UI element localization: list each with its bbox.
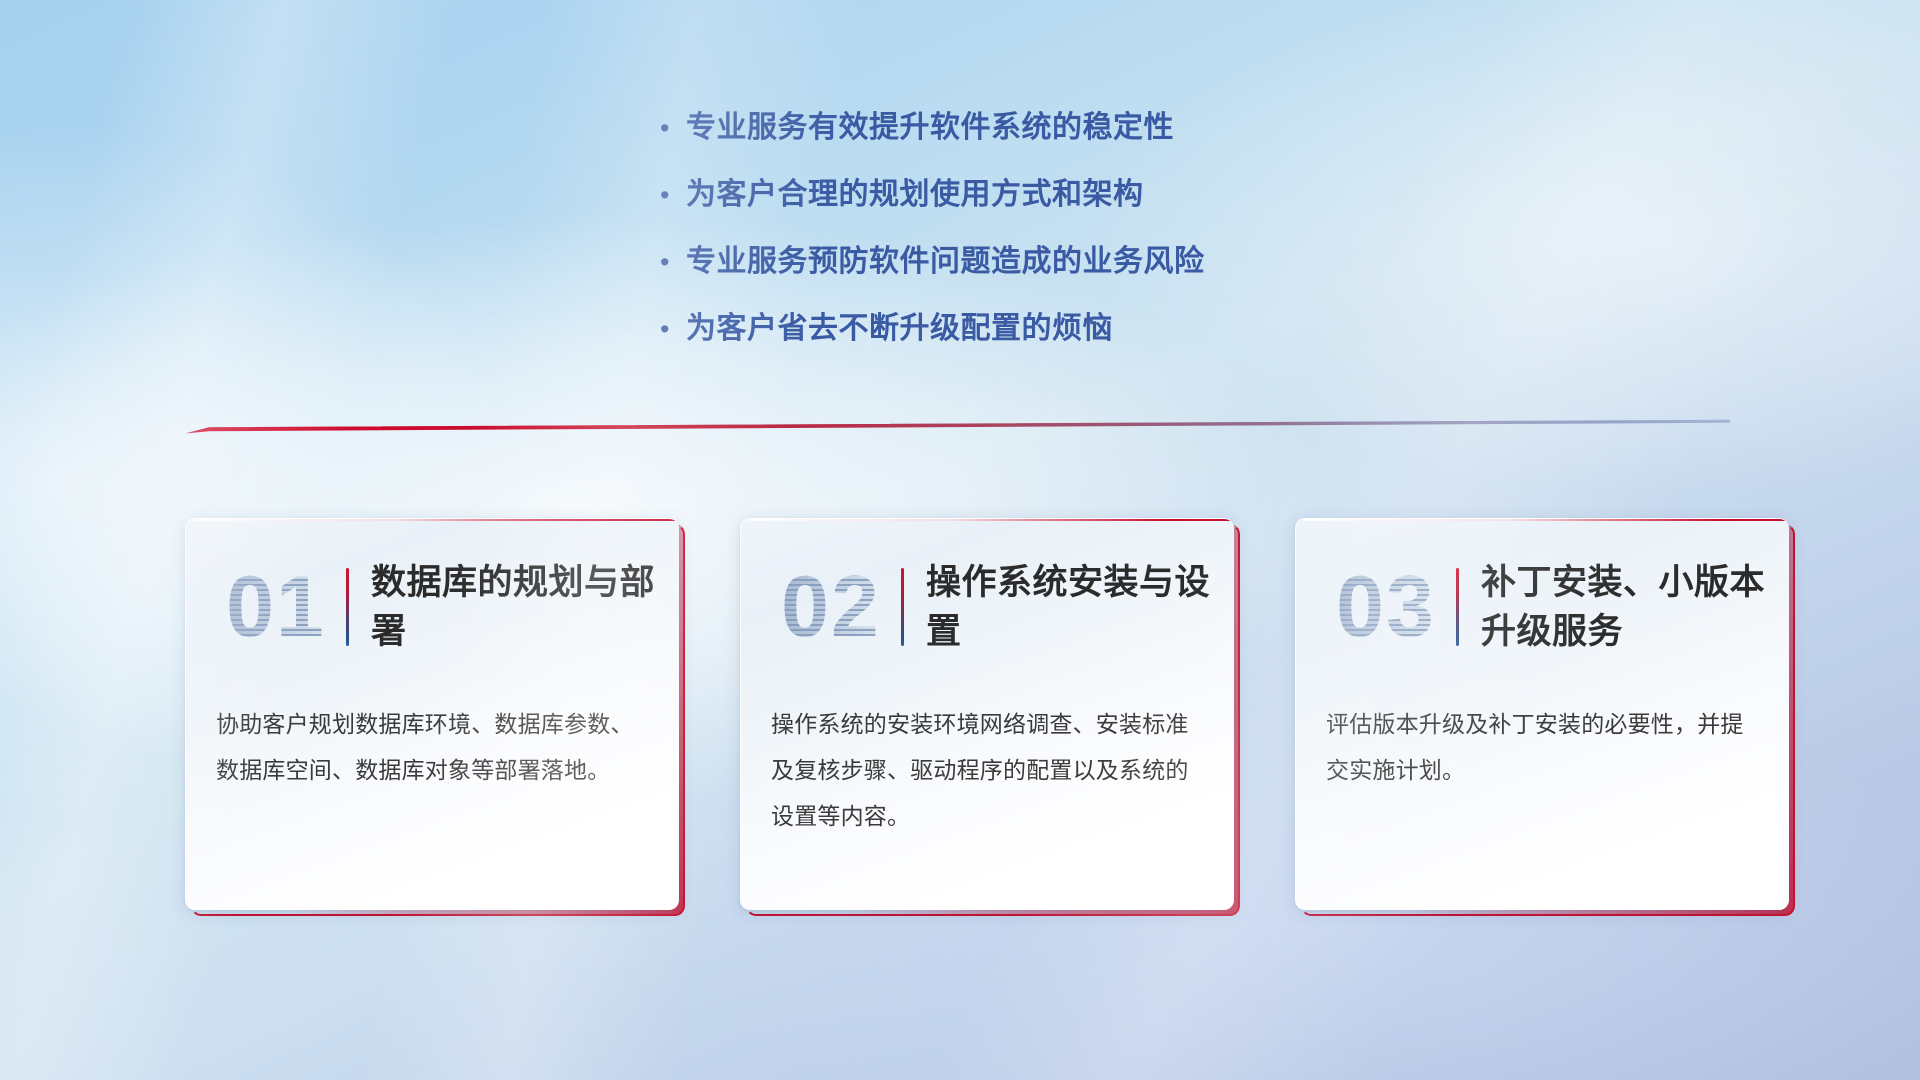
bullet-text: 为客户省去不断升级配置的烦恼 (686, 309, 1113, 349)
service-card-row: 01 数据库的规划与部署 协助客户规划数据库环境、数据库参数、数据库空间、数据库… (185, 518, 1795, 916)
card-separator-rule (901, 568, 904, 646)
card-number: 01 (212, 564, 340, 650)
benefits-bullet-list: • 专业服务有效提升软件系统的稳定性 • 为客户合理的规划使用方式和架构 • 专… (660, 108, 1480, 376)
card-header: 02 操作系统安装与设置 (741, 519, 1234, 695)
card-separator-rule (1456, 568, 1459, 646)
bullet-point-icon: • (660, 108, 686, 148)
list-item: • 专业服务有效提升软件系统的稳定性 (660, 108, 1480, 148)
list-item: • 为客户省去不断升级配置的烦恼 (660, 309, 1480, 349)
service-card[interactable]: 01 数据库的规划与部署 协助客户规划数据库环境、数据库参数、数据库空间、数据库… (185, 518, 685, 916)
card-panel: 01 数据库的规划与部署 协助客户规划数据库环境、数据库参数、数据库空间、数据库… (185, 518, 679, 910)
card-header: 03 补丁安装、小版本升级服务 (1296, 519, 1789, 695)
card-title: 操作系统安装与设置 (926, 558, 1234, 656)
card-panel: 03 补丁安装、小版本升级服务 评估版本升级及补丁安装的必要性，并提交实施计划。 (1295, 518, 1789, 910)
card-title: 数据库的规划与部署 (371, 558, 679, 656)
card-separator-rule (346, 568, 349, 646)
slide-canvas: • 专业服务有效提升软件系统的稳定性 • 为客户合理的规划使用方式和架构 • 专… (0, 0, 1920, 1080)
divider-shape (185, 418, 1730, 440)
list-item: • 专业服务预防软件问题造成的业务风险 (660, 242, 1480, 282)
card-number: 03 (1322, 564, 1450, 650)
card-number: 02 (767, 564, 895, 650)
bullet-text: 专业服务有效提升软件系统的稳定性 (686, 108, 1174, 148)
bullet-text: 为客户合理的规划使用方式和架构 (686, 175, 1144, 215)
service-card[interactable]: 02 操作系统安装与设置 操作系统的安装环境网络调查、安装标准及复核步骤、驱动程… (740, 518, 1240, 916)
bullet-point-icon: • (660, 175, 686, 215)
section-divider (185, 418, 1730, 440)
card-description: 操作系统的安装环境网络调查、安装标准及复核步骤、驱动程序的配置以及系统的设置等内… (741, 695, 1234, 839)
bullet-text: 专业服务预防软件问题造成的业务风险 (686, 242, 1205, 282)
bullet-point-icon: • (660, 242, 686, 282)
card-description: 评估版本升级及补丁安装的必要性，并提交实施计划。 (1296, 695, 1789, 793)
card-panel: 02 操作系统安装与设置 操作系统的安装环境网络调查、安装标准及复核步骤、驱动程… (740, 518, 1234, 910)
service-card[interactable]: 03 补丁安装、小版本升级服务 评估版本升级及补丁安装的必要性，并提交实施计划。 (1295, 518, 1795, 916)
card-header: 01 数据库的规划与部署 (186, 519, 679, 695)
list-item: • 为客户合理的规划使用方式和架构 (660, 175, 1480, 215)
card-title: 补丁安装、小版本升级服务 (1481, 558, 1789, 656)
card-description: 协助客户规划数据库环境、数据库参数、数据库空间、数据库对象等部署落地。 (186, 695, 679, 793)
bullet-point-icon: • (660, 309, 686, 349)
